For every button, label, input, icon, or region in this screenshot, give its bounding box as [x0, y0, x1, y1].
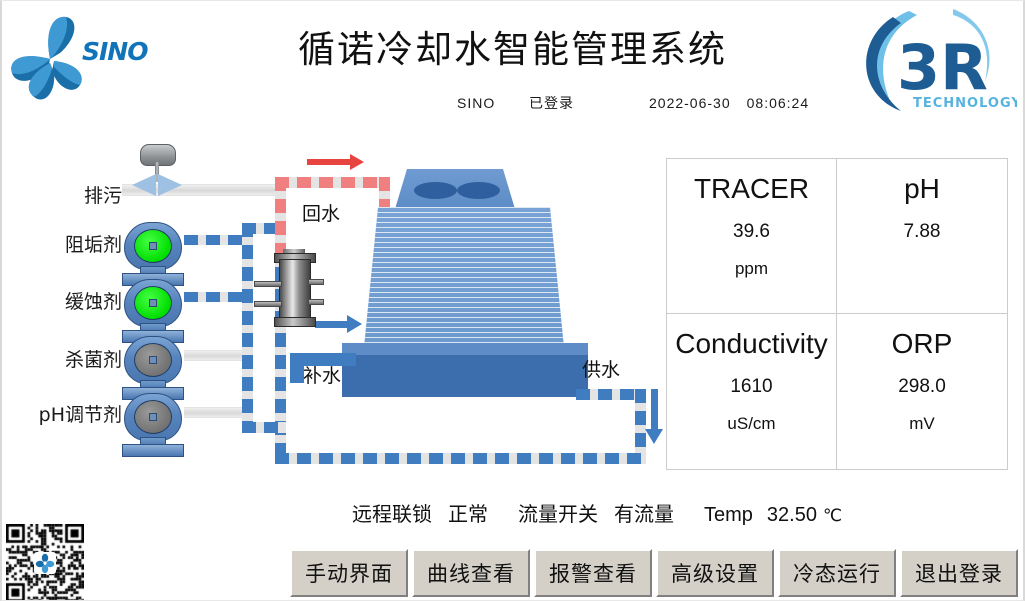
- login-user: SINO: [457, 95, 529, 111]
- svg-text:3R: 3R: [897, 31, 988, 104]
- label-corrosion-inhibitor: 缓蚀剂: [12, 287, 122, 314]
- dosing-line-scale-inhibitor: [184, 235, 246, 245]
- remote-interlock-value: 正常: [448, 498, 488, 527]
- tower-basin: [342, 355, 588, 397]
- label-scale-inhibitor: 阻垢剂: [12, 230, 122, 257]
- measurement-name: pH: [904, 173, 940, 205]
- header: SINO 循诺冷却水智能管理系统 SINO 已登录 2022-06-30 08:…: [2, 1, 1023, 123]
- chamber-probe-upper-right: [308, 279, 324, 285]
- manual-interface-button[interactable]: 手动界面: [290, 549, 408, 597]
- sensor-chamber-icon[interactable]: [266, 249, 322, 333]
- chamber-probe-lower-left: [254, 301, 282, 307]
- measurement-card-ph[interactable]: pH 7.88: [837, 159, 1007, 314]
- svg-text:TECHNOLOGY: TECHNOLOGY: [913, 96, 1017, 111]
- chamber-probe-lower-right: [308, 299, 324, 305]
- login-info: SINO 已登录 2022-06-30 08:06:24: [457, 93, 809, 113]
- pump-scale-inhibitor[interactable]: [116, 222, 188, 284]
- temperature-unit: ℃: [823, 506, 842, 526]
- remote-interlock-label: 远程联锁: [352, 498, 432, 527]
- temperature-label: Temp: [704, 504, 753, 527]
- valve-left-wing: [132, 174, 156, 196]
- trend-curve-button[interactable]: 曲线查看: [412, 549, 530, 597]
- valve-right-wing: [158, 174, 182, 196]
- pump-hub-icon: [149, 356, 157, 364]
- flow-switch-label: 流量开关: [518, 498, 598, 527]
- advanced-settings-button[interactable]: 高级设置: [656, 549, 774, 597]
- tower-fill-shell: [364, 207, 564, 347]
- label-blowdown: 排污: [12, 181, 122, 208]
- pump-corrosion-inhibitor[interactable]: [116, 279, 188, 341]
- makeup-pipe-vertical: [290, 353, 304, 383]
- system-time: 08:06:24: [747, 95, 810, 111]
- login-status: 已登录: [529, 93, 649, 113]
- hmi-screen: SINO 循诺冷却水智能管理系统 SINO 已登录 2022-06-30 08:…: [0, 0, 1025, 601]
- pump-hub-icon: [149, 242, 157, 250]
- chamber-foot: [274, 317, 316, 327]
- measurement-name: TRACER: [694, 173, 809, 205]
- temperature-value: 32.50: [767, 504, 817, 527]
- pump-ph-adjuster[interactable]: [116, 393, 188, 455]
- logout-button[interactable]: 退出登录: [900, 549, 1018, 597]
- measurement-unit: ppm: [735, 259, 768, 279]
- qr-code[interactable]: [6, 524, 84, 601]
- label-makeup-water: 补水: [303, 361, 341, 388]
- loop-left-bottom: [242, 422, 286, 433]
- qr-center-logo: [34, 552, 56, 574]
- pump-biocide[interactable]: [116, 336, 188, 398]
- loop-left-riser: [242, 223, 253, 433]
- measurement-card-tracer[interactable]: TRACER 39.6 ppm: [667, 159, 837, 314]
- cold-run-button[interactable]: 冷态运行: [778, 549, 896, 597]
- measurement-unit: mV: [909, 414, 935, 434]
- sino-mini-icon: [34, 552, 56, 574]
- measurement-card-conductivity[interactable]: Conductivity 1610 uS/cm: [667, 314, 837, 469]
- fan-blade-left: [414, 182, 457, 199]
- measurement-value: 7.88: [904, 221, 941, 243]
- return-flow-arrow-shaft: [307, 159, 353, 165]
- measurement-name: ORP: [892, 328, 953, 360]
- supply-flow-arrow-shaft: [651, 389, 658, 431]
- label-ph-adjuster: pH调节剂: [12, 400, 122, 427]
- label-supply-water: 供水: [582, 355, 620, 382]
- dosing-line-ph-adjuster: [184, 407, 246, 418]
- tower-fan-icon: [414, 182, 500, 199]
- status-bar: 远程联锁 正常 流量开关 有流量 Temp 32.50 ℃: [352, 498, 842, 527]
- pump-hub-icon: [149, 299, 157, 307]
- supply-line-downcomer: [635, 389, 646, 463]
- blowdown-valve-icon[interactable]: [122, 144, 192, 196]
- measurement-value: 39.6: [733, 221, 770, 243]
- button-bar: 手动界面 曲线查看 报警查看 高级设置 冷态运行 退出登录: [290, 549, 1018, 597]
- label-return-water: 回水: [302, 199, 340, 226]
- cooling-tower: [342, 169, 602, 419]
- measurement-panel: TRACER 39.6 ppm pH 7.88 Conductivity 161…: [666, 158, 1008, 470]
- dosing-line-corrosion-inhibitor: [184, 292, 246, 302]
- pump-hub-icon: [149, 413, 157, 421]
- fan-blade-right: [457, 182, 500, 199]
- supply-flow-arrow-head: [645, 429, 663, 444]
- measurement-unit: uS/cm: [727, 414, 775, 434]
- return-line-riser: [275, 177, 286, 259]
- chamber-probe-upper-left: [254, 281, 282, 287]
- label-biocide: 杀菌剂: [12, 345, 122, 372]
- measurement-value: 1610: [730, 376, 772, 398]
- flow-switch-value: 有流量: [614, 498, 674, 527]
- chamber-body: [279, 259, 311, 323]
- r3-logo-icon: 3R TECHNOLOGY: [857, 3, 1017, 121]
- system-date: 2022-06-30: [649, 95, 731, 111]
- alarm-view-button[interactable]: 报警查看: [534, 549, 652, 597]
- return-flow-arrow-head: [350, 154, 364, 170]
- supply-line-bottom: [275, 453, 646, 464]
- pump-base: [122, 444, 184, 457]
- dosing-line-biocide: [184, 350, 246, 361]
- r3-technology-logo: 3R TECHNOLOGY: [857, 3, 1017, 121]
- measurement-value: 298.0: [898, 376, 946, 398]
- measurement-card-orp[interactable]: ORP 298.0 mV: [837, 314, 1007, 469]
- measurement-name: Conductivity: [675, 328, 828, 360]
